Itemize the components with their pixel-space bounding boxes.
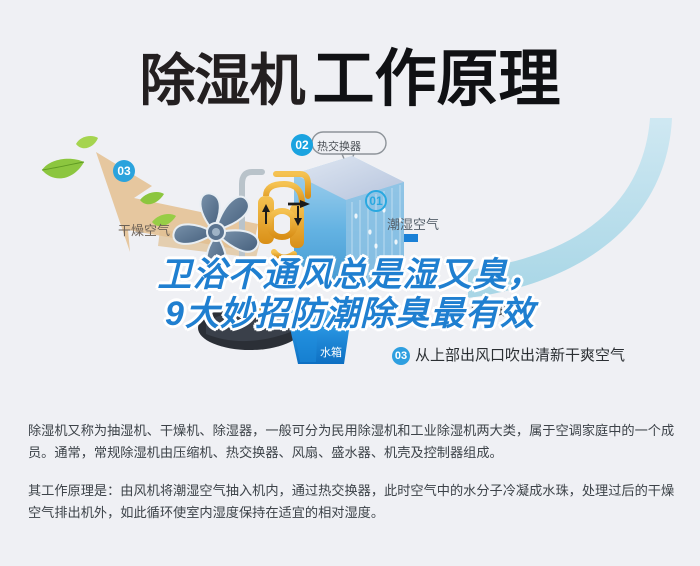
step-badge-01-humid-air: 01 bbox=[365, 190, 387, 212]
machine-housing bbox=[198, 306, 302, 350]
label-dry-air: 干燥空气 bbox=[118, 220, 170, 239]
infographic-page: 除湿机工作原理 bbox=[0, 0, 700, 566]
body-paragraph-2-text: 其工作原理是：由风机将潮湿空气抽入机内，通过热交换器，此时空气中的水分子冷凝成水… bbox=[28, 480, 676, 524]
water-tank bbox=[286, 310, 352, 364]
caption-step-02-text: 成水珠 bbox=[470, 303, 512, 319]
caption-step-03-badge: 03 bbox=[392, 347, 410, 365]
step-badge-02-heat-exchanger: 02 bbox=[291, 134, 313, 156]
label-water-tank: 水箱 bbox=[320, 344, 342, 360]
dehumidifier-diagram: 03 02 01 干燥空气 潮湿空气 热交换器 水箱 成水珠 03从上部出风口吹… bbox=[0, 112, 700, 402]
step-badge-03-dry-air: 03 bbox=[113, 160, 135, 182]
fan-icon bbox=[173, 193, 258, 272]
label-humid-air: 潮湿空气 bbox=[387, 214, 439, 233]
body-paragraph-2: 其工作原理是：由风机将潮湿空气抽入机内，通过热交换器，此时空气中的水分子冷凝成水… bbox=[28, 480, 676, 524]
caption-step-03: 03从上部出风口吹出清新干爽空气 bbox=[392, 344, 625, 365]
caption-step-03-text: 从上部出风口吹出清新干爽空气 bbox=[415, 347, 625, 364]
label-heat-exchanger: 热交换器 bbox=[317, 138, 361, 154]
page-title-part-one: 除湿机 bbox=[139, 49, 304, 112]
body-paragraph-1-text: 除湿机又称为抽湿机、干燥机、除湿器，一般可分为民用除湿机和工业除湿机两大类，属于… bbox=[28, 420, 676, 464]
page-title: 除湿机工作原理 bbox=[0, 28, 700, 118]
caption-step-02: 成水珠 bbox=[470, 301, 512, 321]
page-title-part-two: 工作原理 bbox=[312, 45, 560, 114]
body-paragraph-1: 除湿机又称为抽湿机、干燥机、除湿器，一般可分为民用除湿机和工业除湿机两大类，属于… bbox=[28, 420, 676, 464]
humid-air-arrow bbox=[430, 118, 672, 298]
